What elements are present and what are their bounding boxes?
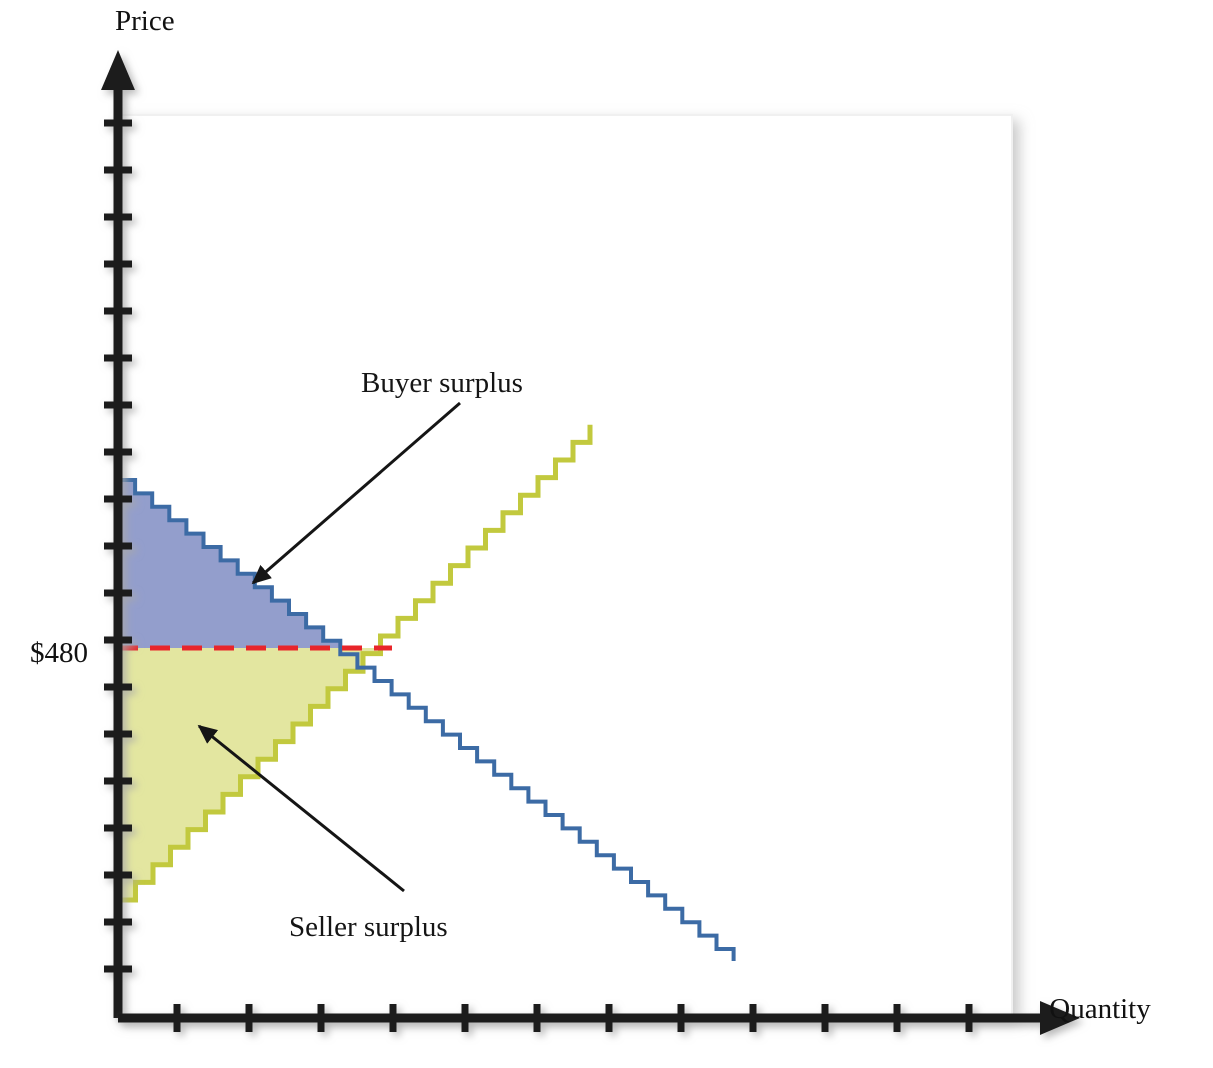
y-axis-tick-label-equilibrium: $480 xyxy=(30,637,88,669)
y-axis-arrow-icon xyxy=(101,50,135,90)
plot-panel xyxy=(118,115,1012,1015)
x-axis-title: Quantity xyxy=(1049,993,1151,1025)
y-axis-title: Price xyxy=(115,5,175,37)
seller-surplus-label: Seller surplus xyxy=(289,911,448,943)
chart-svg: Price Quantity $480 Buyer surplus Seller… xyxy=(0,0,1213,1068)
supply-demand-chart: Price Quantity $480 Buyer surplus Seller… xyxy=(0,0,1213,1068)
plot-area-background xyxy=(118,115,1012,1015)
buyer-surplus-label: Buyer surplus xyxy=(361,367,523,399)
